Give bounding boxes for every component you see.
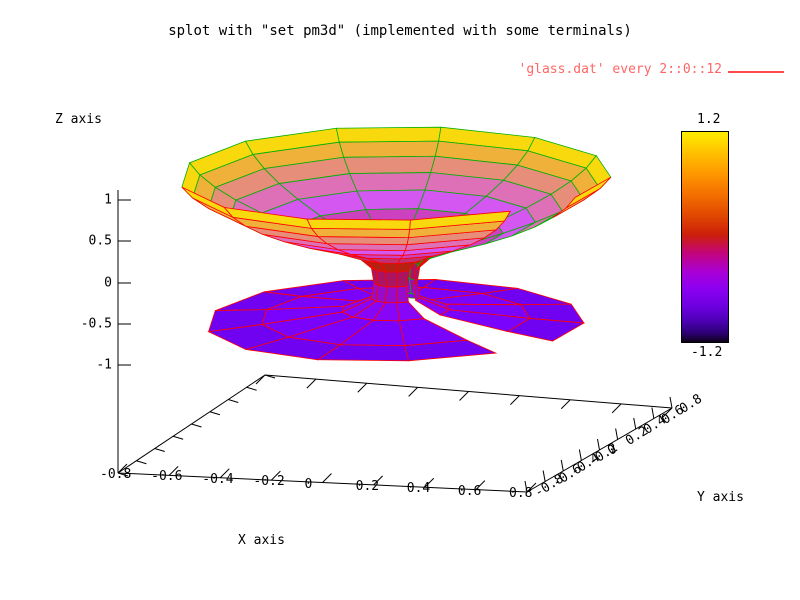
surface-3d bbox=[182, 127, 611, 361]
surface-facet bbox=[336, 127, 441, 142]
surface-facet bbox=[397, 271, 408, 287]
x-tick-label: -0.6 bbox=[151, 469, 182, 484]
z-tick-label: 0 bbox=[60, 276, 112, 291]
x-tick-label: 0 bbox=[305, 477, 313, 492]
x-tick-label: -0.2 bbox=[253, 474, 284, 489]
z-tick-label: 1 bbox=[60, 193, 112, 208]
z-tick-label: -0.5 bbox=[60, 317, 112, 332]
z-tick-label: -1 bbox=[60, 358, 112, 373]
surface-facet bbox=[344, 156, 436, 173]
surface-facet bbox=[386, 272, 398, 287]
surface-facet bbox=[397, 302, 424, 321]
plot-canvas bbox=[0, 0, 800, 600]
x-tick-label: 0.6 bbox=[458, 484, 481, 499]
surface-facet bbox=[397, 286, 408, 303]
surface-facet bbox=[339, 141, 438, 157]
x-tick-label: -0.8 bbox=[100, 467, 131, 482]
surface-facet bbox=[350, 173, 431, 191]
surface-facet bbox=[307, 219, 410, 229]
gnuplot-figure: splot with "set pm3d" (implemented with … bbox=[0, 0, 800, 600]
x-tick-label: 0.2 bbox=[356, 479, 379, 494]
x-tick-label: -0.4 bbox=[202, 472, 233, 487]
x-tick-label: 0.4 bbox=[407, 481, 430, 496]
z-tick-label: 0.5 bbox=[60, 234, 112, 249]
surface-facet bbox=[311, 228, 409, 237]
x-tick-label: 0.8 bbox=[509, 486, 532, 501]
surface-facet bbox=[386, 287, 398, 303]
surface-facet bbox=[376, 285, 386, 302]
surface-facet bbox=[357, 190, 425, 209]
